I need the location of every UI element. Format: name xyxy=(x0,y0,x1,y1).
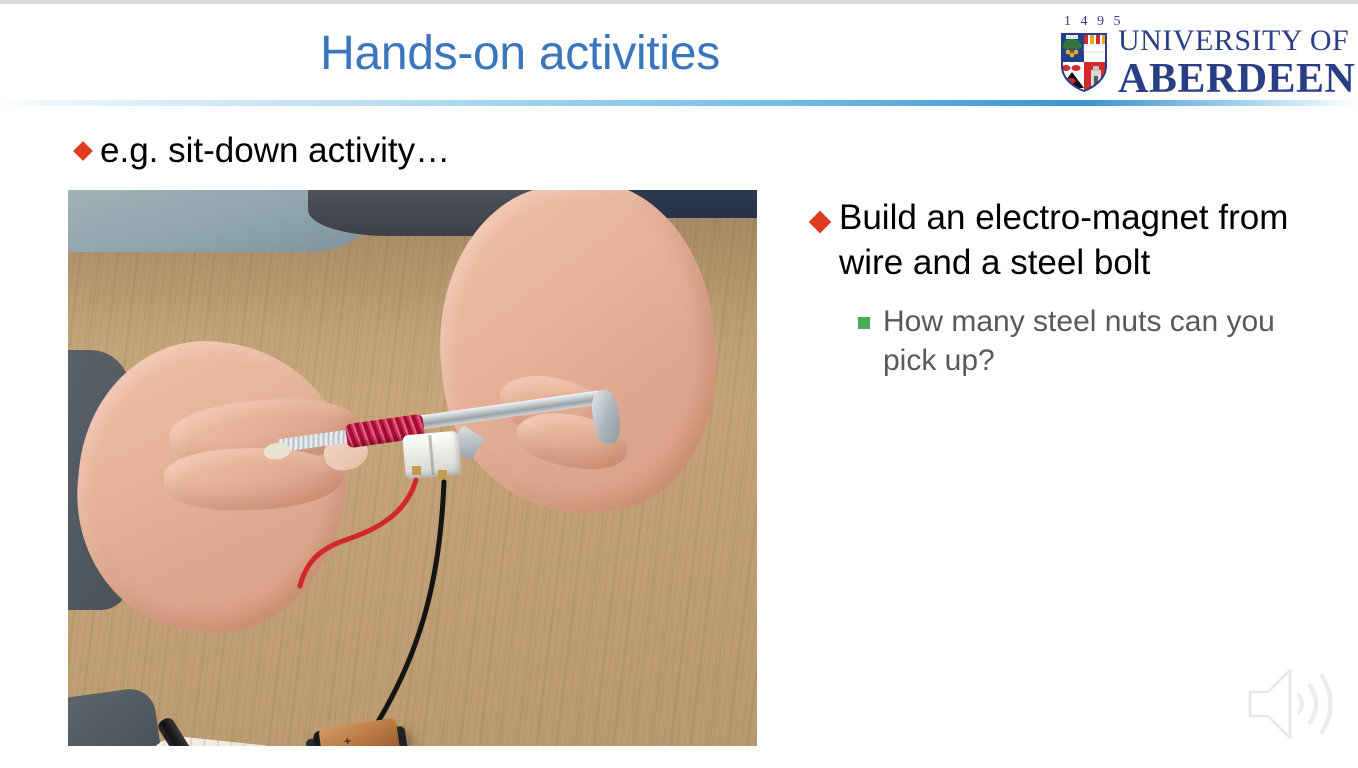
logo-line-1: UNIVERSITY OF xyxy=(1118,26,1355,56)
red-wire xyxy=(300,480,416,586)
right-text-column: Build an electro-magnet from wire and a … xyxy=(812,196,1352,381)
red-diamond-bullet-icon xyxy=(809,211,832,234)
red-diamond-bullet-icon xyxy=(73,141,93,161)
logo-wordmark: UNIVERSITY OF ABERDEEN xyxy=(1118,26,1355,100)
circuit-wires xyxy=(68,190,757,746)
main-bullet-row: Build an electro-magnet from wire and a … xyxy=(812,196,1352,286)
activity-photo: + DURACELL ALKALINE xyxy=(68,190,757,746)
green-square-bullet-icon xyxy=(858,317,870,329)
logo-line-2: ABERDEEN xyxy=(1118,58,1355,100)
lead-bullet-text: e.g. sit-down activity… xyxy=(100,130,450,172)
lead-bullet-row: e.g. sit-down activity… xyxy=(76,130,450,172)
page-title: Hands-on activities xyxy=(0,26,1040,81)
header-divider xyxy=(0,100,1358,106)
sub-bullet-text: How many steel nuts can you pick up? xyxy=(883,302,1303,381)
logo-founding-year: 1 4 9 5 xyxy=(1064,14,1124,30)
viewer-top-strip xyxy=(0,0,1358,4)
black-wire xyxy=(368,482,444,738)
university-logo: 1 4 9 5 xyxy=(1056,14,1348,98)
presentation-slide: Hands-on activities 1 4 9 5 xyxy=(0,0,1358,768)
sub-bullet-row: How many steel nuts can you pick up? xyxy=(858,302,1352,381)
main-bullet-text: Build an electro-magnet from wire and a … xyxy=(839,196,1339,286)
university-crest-shield-icon xyxy=(1060,32,1108,92)
audio-speaker-icon[interactable] xyxy=(1242,660,1342,748)
